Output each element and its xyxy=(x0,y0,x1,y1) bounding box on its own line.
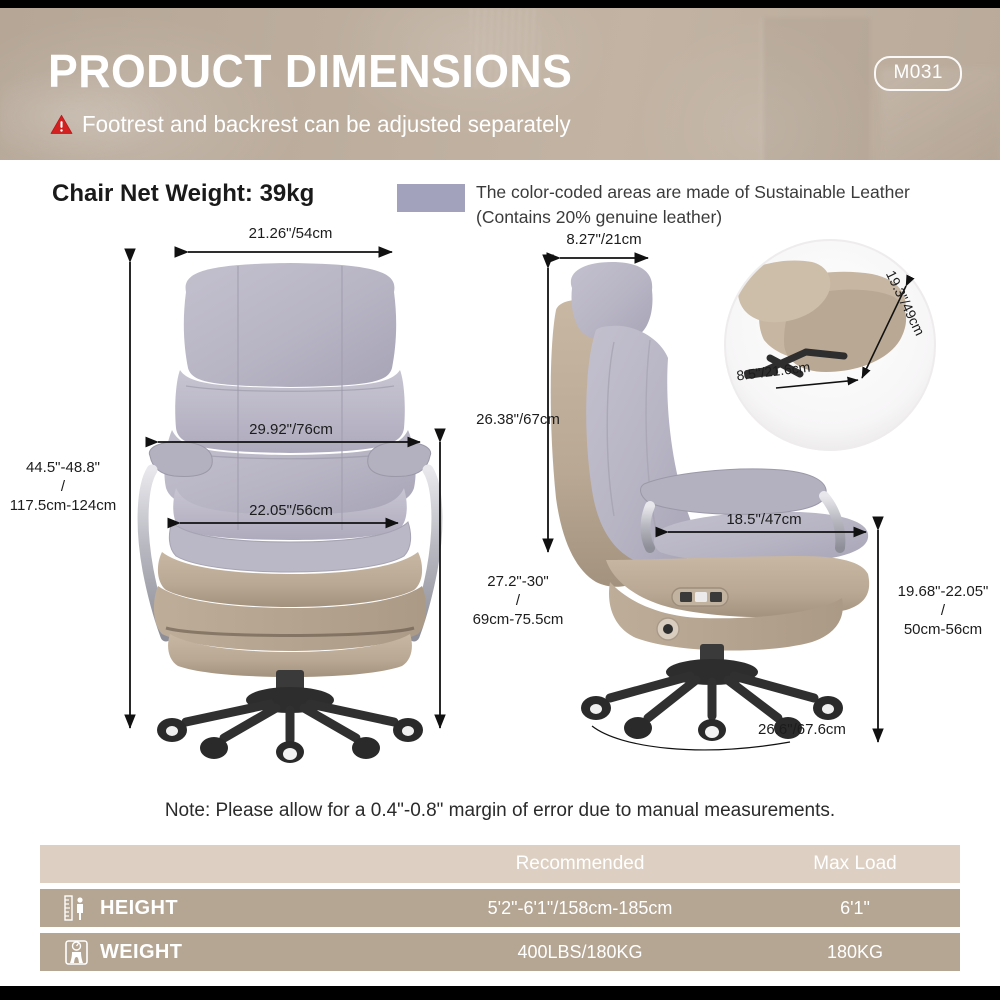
header-recommended-text: Recommended xyxy=(516,853,645,874)
row-height-maxload-cell: 6'1" xyxy=(750,898,960,919)
legend-line-2: (Contains 20% genuine leather) xyxy=(476,207,722,227)
row-weight-recommended: 400LBS/180KG xyxy=(517,942,642,962)
side-seat-height-label: 19.68"-22.05" / 50cm-56cm xyxy=(884,582,1000,639)
footrest-detail-inset xyxy=(725,240,935,450)
table-header-recommended: Recommended xyxy=(410,853,750,875)
front-top-width-label: 21.26"/54cm xyxy=(218,224,363,243)
top-black-bar xyxy=(0,0,1000,8)
table-header-maxload: Max Load xyxy=(750,853,960,875)
row-height-maxload: 6'1" xyxy=(840,898,870,918)
dimension-diagram: 21.26"/54cm 29.92"/76cm 22.05"/56cm 44.5… xyxy=(0,230,1000,790)
row-weight-recommended-cell: 400LBS/180KG xyxy=(410,942,750,963)
spec-table: Recommended Max Load HEIGHT 5'2"-6'1"/15… xyxy=(40,845,960,977)
table-header-row: Recommended Max Load xyxy=(40,845,960,883)
measurement-note: Note: Please allow for a 0.4"-0.8" margi… xyxy=(0,800,1000,822)
warning-triangle-icon xyxy=(50,114,73,135)
row-height-recommended: 5'2"-6'1"/158cm-185cm xyxy=(488,898,673,918)
row-weight-label: WEIGHT xyxy=(100,941,182,964)
side-backrest-height-label: 26.38"/67cm xyxy=(448,410,588,429)
side-extended-depth-label: 27.2"-30" / 69cm-75.5cm xyxy=(448,572,588,629)
net-weight-label: Chair Net Weight: 39kg xyxy=(52,180,314,208)
table-row: HEIGHT 5'2"-6'1"/158cm-185cm 6'1" xyxy=(40,889,960,927)
subtitle-text: Footrest and backrest can be adjusted se… xyxy=(82,111,571,138)
side-seat-depth-label: 18.5"/47cm xyxy=(694,510,834,529)
row-height-label-cell: HEIGHT xyxy=(40,894,410,922)
row-height-recommended-cell: 5'2"-6'1"/158cm-185cm xyxy=(410,898,750,919)
header-maxload-text: Max Load xyxy=(813,853,896,874)
legend-color-swatch xyxy=(397,184,465,212)
model-badge: M031 xyxy=(874,56,962,91)
page-title: PRODUCT DIMENSIONS xyxy=(48,44,572,98)
header-bg-texture-right xyxy=(760,18,870,160)
front-total-height-label: 44.5"-48.8" / 117.5cm-124cm xyxy=(0,458,128,515)
row-weight-maxload: 180KG xyxy=(827,942,883,962)
header-banner: PRODUCT DIMENSIONS M031 Footrest and bac… xyxy=(0,8,1000,160)
subtitle-row: Footrest and backrest can be adjusted se… xyxy=(50,111,586,138)
side-headrest-depth-label: 8.27"/21cm xyxy=(538,230,670,249)
diagram-graphics xyxy=(0,230,1000,790)
front-backrest-width-label: 29.92"/76cm xyxy=(216,420,366,439)
row-weight-maxload-cell: 180KG xyxy=(750,942,960,963)
row-weight-label-cell: WEIGHT xyxy=(40,938,410,966)
row-height-label: HEIGHT xyxy=(100,897,178,920)
legend-line-1: The color-coded areas are made of Sustai… xyxy=(476,182,910,202)
table-row: WEIGHT 400LBS/180KG 180KG xyxy=(40,933,960,971)
legend-description: The color-coded areas are made of Sustai… xyxy=(476,180,986,230)
front-seat-width-label: 22.05"/56cm xyxy=(216,501,366,520)
height-ruler-person-icon xyxy=(64,894,89,922)
side-base-diameter-label: 26.6"/67.6cm xyxy=(722,720,882,739)
weight-scale-person-icon xyxy=(64,938,89,966)
bottom-black-bar xyxy=(0,986,1000,1000)
